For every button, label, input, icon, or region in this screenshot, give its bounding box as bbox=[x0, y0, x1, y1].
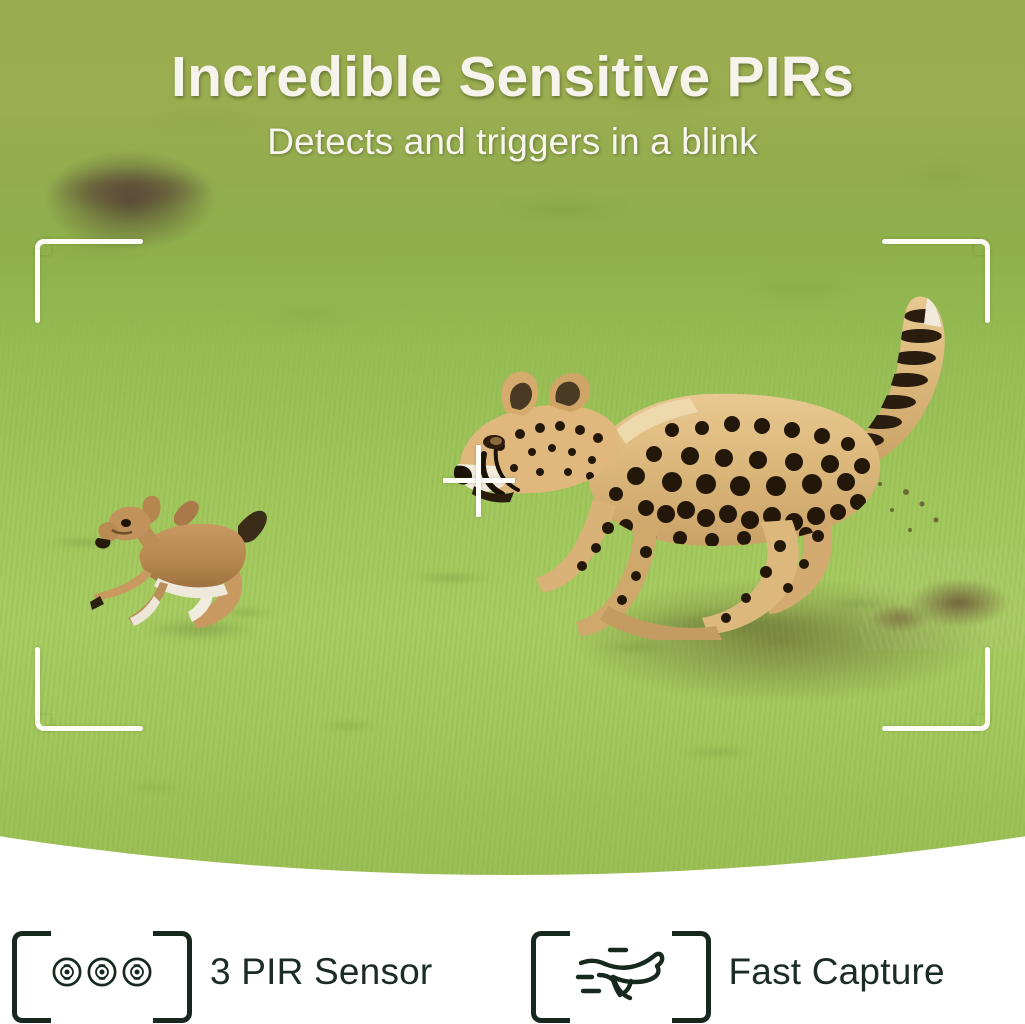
focus-bracket-bottom-left-icon bbox=[35, 647, 143, 731]
crosshair-icon bbox=[443, 445, 515, 517]
page-subtitle: Detects and triggers in a blink bbox=[0, 122, 1025, 163]
running-cheetah-speed-icon bbox=[569, 941, 673, 1003]
focus-bracket-top-left-icon bbox=[35, 239, 143, 323]
page-title: Incredible Sensitive PIRs bbox=[0, 48, 1025, 108]
feature-bar: 3 PIR Sensor Fast Capture bbox=[0, 920, 1025, 1024]
feature-item-pir-sensor: 3 PIR Sensor bbox=[0, 920, 507, 1024]
feature-label: 3 PIR Sensor bbox=[210, 951, 432, 993]
feature-label: Fast Capture bbox=[729, 951, 945, 993]
focus-bracket-bottom-right-icon bbox=[882, 647, 990, 731]
pir-sensor-icon bbox=[122, 957, 152, 987]
pir-sensor-icon bbox=[87, 957, 117, 987]
feature-item-fast-capture: Fast Capture bbox=[507, 920, 1025, 1024]
square-bracket-frame-icon bbox=[531, 931, 711, 1013]
focus-bracket-top-right-icon bbox=[882, 239, 990, 323]
square-bracket-frame-icon bbox=[12, 931, 192, 1013]
pir-sensor-icon bbox=[52, 957, 82, 987]
